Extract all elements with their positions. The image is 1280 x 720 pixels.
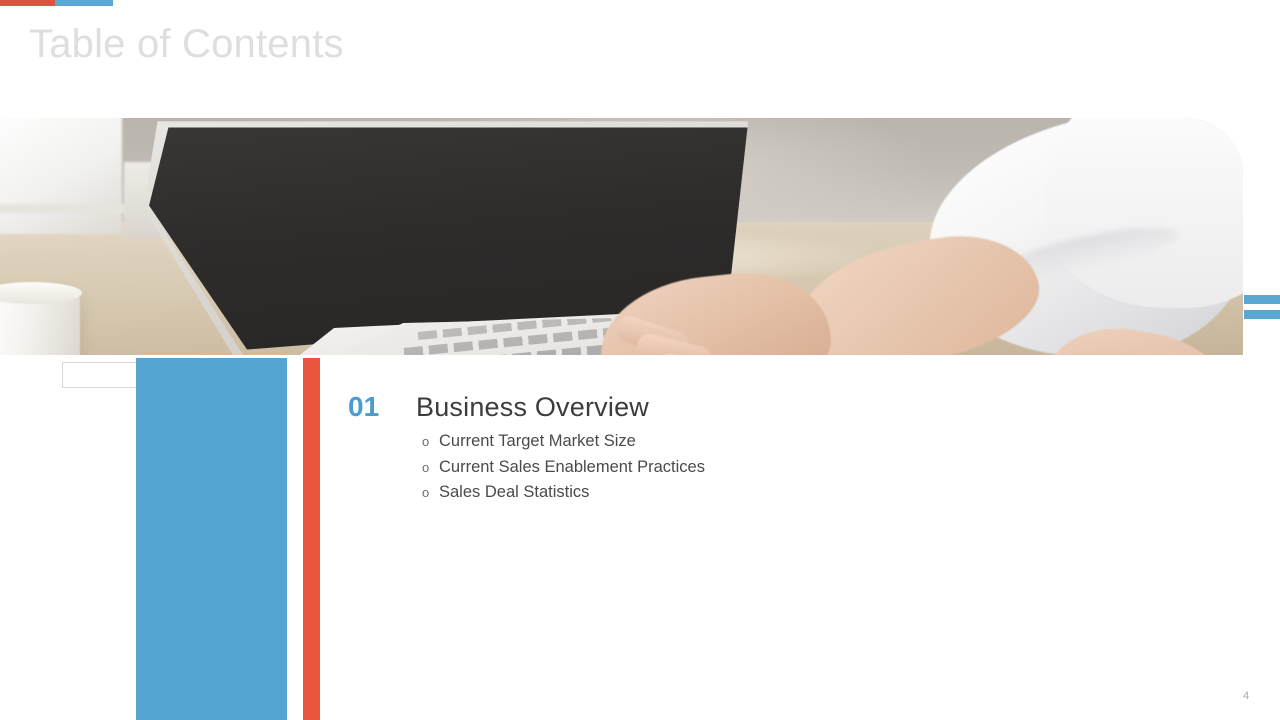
- list-item-label: Current Sales Enablement Practices: [439, 458, 705, 476]
- list-item[interactable]: o Sales Deal Statistics: [422, 480, 705, 506]
- hero-photo: [0, 118, 1243, 355]
- top-accent-bar-red: [0, 0, 55, 6]
- list-item-label: Current Target Market Size: [439, 432, 636, 450]
- list-item[interactable]: o Current Sales Enablement Practices: [422, 455, 705, 481]
- section-number: 01: [348, 391, 416, 423]
- list-item-label: Sales Deal Statistics: [439, 483, 589, 501]
- circle-bullet-icon: o: [422, 455, 429, 481]
- page-number: 4: [1243, 690, 1249, 702]
- circle-bullet-icon: o: [422, 429, 429, 455]
- circle-bullet-icon: o: [422, 480, 429, 506]
- right-edge-accent-bar: [1244, 310, 1280, 319]
- toc-section-01[interactable]: 01 Business Overview o Current Target Ma…: [348, 391, 705, 506]
- toc-section-header: 01 Business Overview: [348, 391, 705, 423]
- list-item[interactable]: o Current Target Market Size: [422, 429, 705, 455]
- page-title: Table of Contents: [29, 22, 344, 67]
- right-edge-accent-bar: [1244, 295, 1280, 304]
- photo-window-sill: [0, 204, 138, 213]
- blue-column-block: [136, 358, 287, 720]
- hero-photo-illustration: [0, 118, 1243, 355]
- slide-canvas: Table of Contents: [0, 0, 1280, 720]
- red-divider-bar: [303, 358, 320, 720]
- photo-window: [0, 118, 122, 234]
- section-title: Business Overview: [416, 392, 649, 423]
- toc-sub-item-list: o Current Target Market Size o Current S…: [348, 429, 705, 506]
- top-accent-bar-blue: [55, 0, 113, 6]
